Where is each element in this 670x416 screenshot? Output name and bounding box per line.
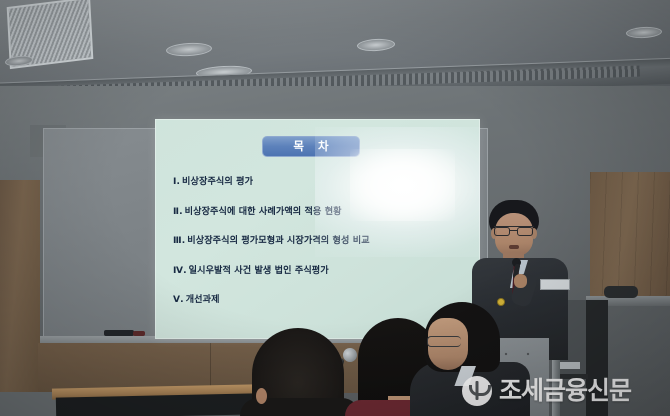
glasses-icon — [494, 226, 534, 236]
ceiling-downlight — [166, 42, 213, 57]
toc-item: Ⅳ.일시우발적 사건 발생 법인 주식평가 — [173, 266, 473, 277]
toc-label: 비상장주식에 대한 사례가액의 적용 현황 — [185, 207, 342, 217]
toc-numeral: Ⅳ. — [173, 266, 187, 276]
presenter-hand — [514, 274, 527, 288]
toc-numeral: Ⅱ. — [173, 207, 183, 217]
toc-numeral: Ⅲ. — [173, 236, 185, 246]
photo-scene: 목 차 Ⅰ.비상장주식의 평가 Ⅱ.비상장주식에 대한 사례가액의 적용 현황 … — [0, 0, 670, 416]
equipment-slot — [560, 362, 580, 369]
toc-label: 일시우발적 사건 발생 법인 주식평가 — [189, 266, 329, 276]
projected-slide: 목 차 Ⅰ.비상장주식의 평가 Ⅱ.비상장주식에 대한 사례가액의 적용 현황 … — [155, 119, 480, 339]
ceiling-downlight — [626, 26, 663, 39]
presenter-mouth — [509, 245, 519, 249]
glasses-bridge — [510, 230, 517, 231]
glasses-lens — [494, 227, 510, 236]
ledge-object — [604, 286, 638, 298]
ceiling-downlight — [357, 38, 396, 52]
toc-item: Ⅱ.비상장주식에 대한 사례가액의 적용 현황 — [173, 207, 473, 218]
whiteboard-eraser — [133, 331, 145, 336]
glasses-icon — [427, 336, 461, 347]
ceiling — [0, 0, 670, 96]
glasses-lens — [517, 227, 533, 236]
toc-label: 비상장주식의 평가모형과 시장가격의 형성 비교 — [187, 236, 369, 246]
wood-grain-texture — [590, 172, 670, 300]
audience-member-ear — [256, 388, 267, 404]
toc-item: Ⅲ.비상장주식의 평가모형과 시장가격의 형성 비교 — [173, 236, 473, 247]
toc-numeral: Ⅴ. — [173, 295, 184, 305]
toc-numeral: Ⅰ. — [173, 177, 180, 187]
slide-title: 목 차 — [262, 136, 360, 157]
lapel-pin-icon — [497, 298, 505, 306]
equipment-slot — [560, 374, 588, 379]
toc-item: Ⅰ.비상장주식의 평가 — [173, 177, 473, 188]
equipment-label — [540, 279, 570, 290]
table-of-contents-list: Ⅰ.비상장주식의 평가 Ⅱ.비상장주식에 대한 사례가액의 적용 현황 Ⅲ.비상… — [173, 177, 473, 325]
whiteboard-marker — [104, 330, 134, 336]
toc-item: Ⅴ.개선과제 — [173, 295, 473, 306]
wood-panel-left — [0, 180, 40, 416]
toc-label: 비상장주식의 평가 — [182, 177, 253, 187]
toc-label: 개선과제 — [186, 295, 220, 305]
